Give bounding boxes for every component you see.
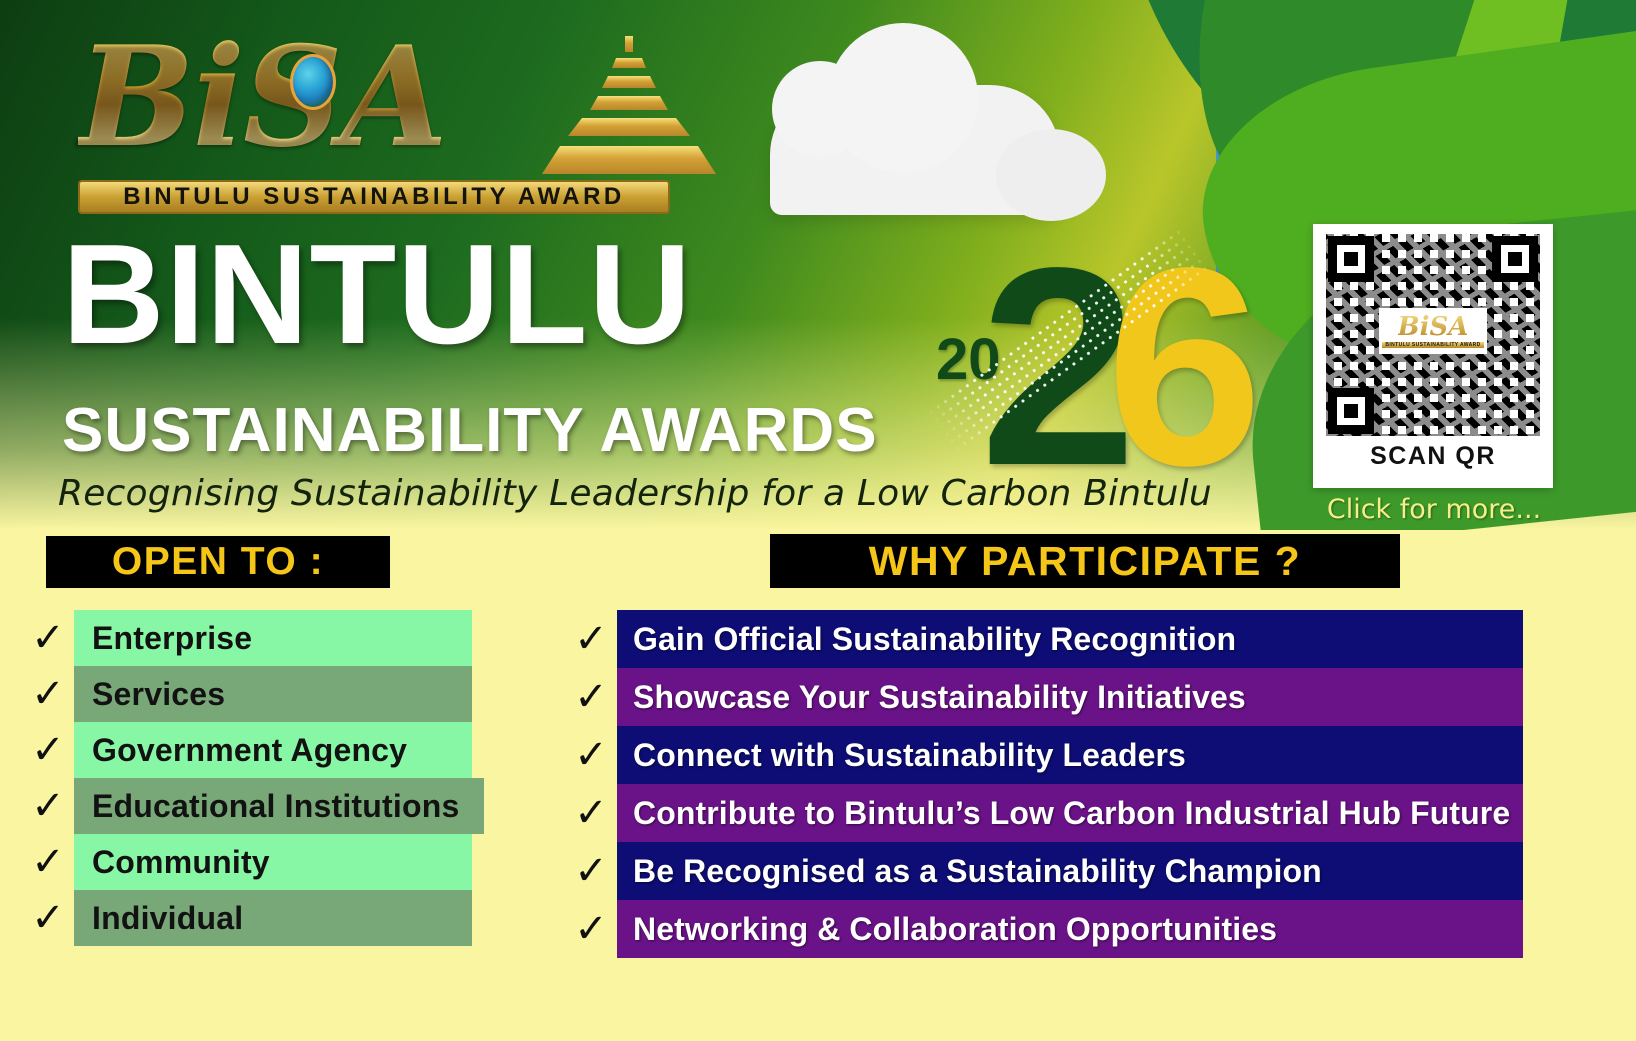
list-item[interactable]: ✓ Government Agency (22, 722, 472, 778)
qr-scan-label: SCAN QR (1370, 442, 1496, 471)
qr-embedded-logo: BiSA BINTULU SUSTAINABILITY AWARD (1379, 308, 1487, 354)
open-to-item-label: Services (74, 666, 472, 722)
qr-finder-top-right (1492, 236, 1538, 282)
check-icon: ✓ (22, 610, 74, 666)
page-subtitle: SUSTAINABILITY AWARDS (62, 398, 878, 464)
cloud-bump (996, 129, 1106, 221)
check-icon: ✓ (565, 900, 617, 958)
qr-embedded-logo-mark: BiSA (1398, 314, 1469, 340)
check-icon: ✓ (22, 778, 74, 834)
why-participate-list: ✓ Gain Official Sustainability Recogniti… (565, 610, 1523, 958)
qr-code-card[interactable]: BiSA BINTULU SUSTAINABILITY AWARD SCAN Q… (1313, 224, 1553, 488)
why-participate-item-label: Gain Official Sustainability Recognition (617, 610, 1523, 668)
open-to-item-label: Individual (74, 890, 472, 946)
list-item[interactable]: ✓ Gain Official Sustainability Recogniti… (565, 610, 1523, 668)
check-icon: ✓ (22, 834, 74, 890)
check-icon: ✓ (565, 784, 617, 842)
open-to-banner-label: OPEN TO : (112, 540, 324, 584)
open-to-list: ✓ Enterprise ✓ Services ✓ Government Age… (22, 610, 472, 946)
qr-finder-bottom-left (1328, 388, 1374, 434)
check-icon: ✓ (22, 666, 74, 722)
logo-tagline-bar: BINTULU SUSTAINABILITY AWARD (78, 180, 670, 214)
list-item[interactable]: ✓ Community (22, 834, 472, 890)
check-icon: ✓ (22, 722, 74, 778)
open-to-item-label: Educational Institutions (74, 778, 484, 834)
check-icon: ✓ (565, 610, 617, 668)
globe-icon (290, 54, 336, 110)
list-item[interactable]: ✓ Contribute to Bintulu’s Low Carbon Ind… (565, 784, 1523, 842)
bisa-logo: BiSA BINTULU SUSTAINABILITY AWARD (78, 22, 678, 217)
why-participate-item-label: Connect with Sustainability Leaders (617, 726, 1523, 784)
list-item[interactable]: ✓ Showcase Your Sustainability Initiativ… (565, 668, 1523, 726)
open-to-item-label: Government Agency (74, 722, 472, 778)
poster-canvas: BiSA BINTULU SUSTAINABILITY AWARD (0, 0, 1636, 1041)
cloud-icon (770, 85, 1060, 215)
page-title: BINTULU (62, 225, 692, 365)
qr-code-icon[interactable]: BiSA BINTULU SUSTAINABILITY AWARD (1326, 234, 1540, 436)
qr-embedded-logo-bar: BINTULU SUSTAINABILITY AWARD (1382, 342, 1483, 348)
open-to-banner: OPEN TO : (46, 536, 390, 588)
year-badge: 2 6 20 (918, 238, 1218, 500)
list-item[interactable]: ✓ Networking & Collaboration Opportuniti… (565, 900, 1523, 958)
qr-click-for-more-link[interactable]: Click for more... (1310, 494, 1558, 525)
list-item[interactable]: ✓ Individual (22, 890, 472, 946)
open-to-item-label: Enterprise (74, 610, 472, 666)
list-item[interactable]: ✓ Enterprise (22, 610, 472, 666)
list-item[interactable]: ✓ Connect with Sustainability Leaders (565, 726, 1523, 784)
logo-tagline-text: BINTULU SUSTAINABILITY AWARD (123, 183, 625, 211)
pagoda-icon (530, 34, 730, 184)
qr-finder-top-left (1328, 236, 1374, 282)
list-item[interactable]: ✓ Educational Institutions (22, 778, 472, 834)
check-icon: ✓ (565, 726, 617, 784)
check-icon: ✓ (22, 890, 74, 946)
check-icon: ✓ (565, 668, 617, 726)
list-item[interactable]: ✓ Be Recognised as a Sustainability Cham… (565, 842, 1523, 900)
list-item[interactable]: ✓ Services (22, 666, 472, 722)
why-participate-banner-label: WHY PARTICIPATE ? (869, 538, 1301, 585)
why-participate-item-label: Showcase Your Sustainability Initiatives (617, 668, 1523, 726)
why-participate-banner: WHY PARTICIPATE ? (770, 534, 1400, 588)
why-participate-item-label: Be Recognised as a Sustainability Champi… (617, 842, 1523, 900)
check-icon: ✓ (565, 842, 617, 900)
why-participate-item-label: Contribute to Bintulu’s Low Carbon Indus… (617, 784, 1523, 842)
why-participate-item-label: Networking & Collaboration Opportunities (617, 900, 1523, 958)
open-to-item-label: Community (74, 834, 472, 890)
